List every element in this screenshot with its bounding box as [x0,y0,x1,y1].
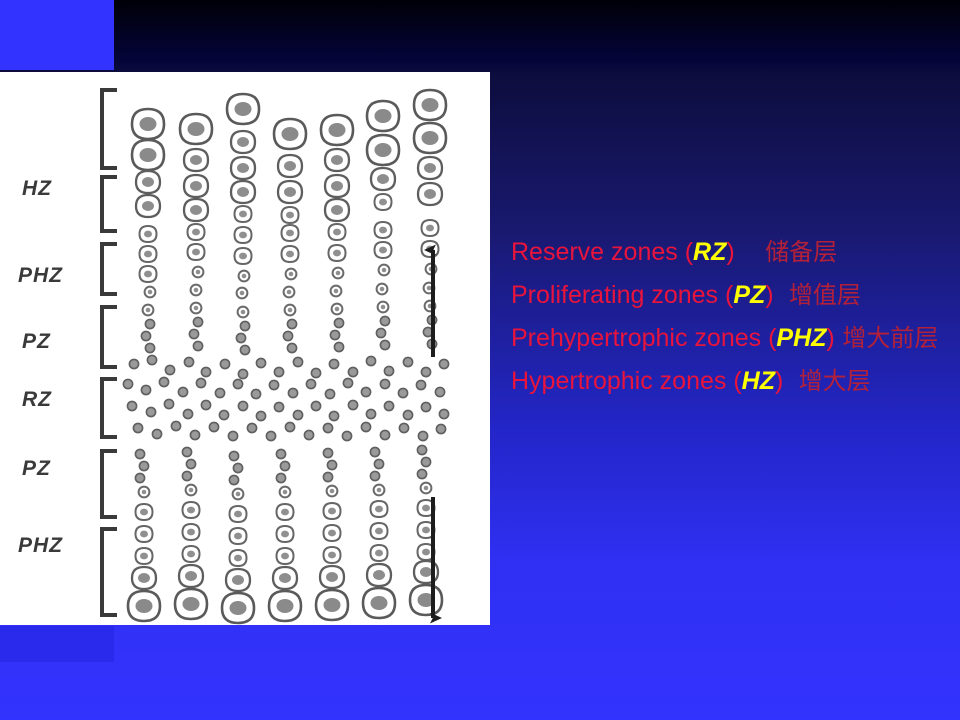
caption-abbr: RZ [693,238,726,266]
zone-label-pz-upper: PZ [22,330,51,354]
caption-chinese: 增大前层 [835,324,939,352]
slide-canvas: HZ PHZ PZ RZ PZ PHZ HZ [0,0,960,720]
growth-plate-figure-panel: HZ PHZ PZ RZ PZ PHZ HZ [0,72,490,625]
zone-label-rz: RZ [22,388,52,412]
zone-label-phz-bot: PHZ [18,534,63,558]
footer-placeholder-box [0,626,114,662]
caption-open-paren: ( [726,367,741,395]
caption-english: Proliferating zones [511,281,718,309]
caption-prehypertrophic-zones: Prehypertrophic zones (PHZ) 增大前层 [511,326,938,351]
caption-abbr: HZ [742,367,775,395]
zone-bracket [100,242,117,296]
caption-proliferating-zones: Proliferating zones (PZ) 增值层 [511,283,861,308]
caption-chinese: 储备层 [735,238,838,266]
caption-abbr: PZ [733,281,765,309]
zone-bracket [100,175,117,233]
caption-open-paren: ( [761,324,776,352]
caption-abbr: PHZ [776,324,826,352]
caption-english: Reserve zones [511,238,678,266]
caption-english: Hypertrophic zones [511,367,726,395]
caption-chinese: 增大层 [783,367,870,395]
zone-bracket [100,88,117,170]
caption-open-paren: ( [718,281,733,309]
caption-chinese: 增值层 [774,281,861,309]
zone-bracket [100,377,117,439]
caption-close-paren: ) [726,238,734,266]
zone-bracket [100,527,117,617]
zone-label-hz-top: HZ [22,177,52,201]
caption-reserve-zones: Reserve zones (RZ) 储备层 [511,240,837,265]
caption-hypertrophic-zones: Hypertrophic zones (HZ) 增大层 [511,369,871,394]
zone-bracket [100,305,117,369]
chondrocyte-column-drawing [0,72,490,625]
top-left-accent-block [0,0,114,70]
caption-close-paren: ) [765,281,773,309]
zone-label-phz-top: PHZ [18,264,63,288]
zone-bracket [100,449,117,519]
caption-english: Prehypertrophic zones [511,324,761,352]
zone-label-pz-lower: PZ [22,457,51,481]
caption-close-paren: ) [826,324,834,352]
caption-open-paren: ( [678,238,693,266]
